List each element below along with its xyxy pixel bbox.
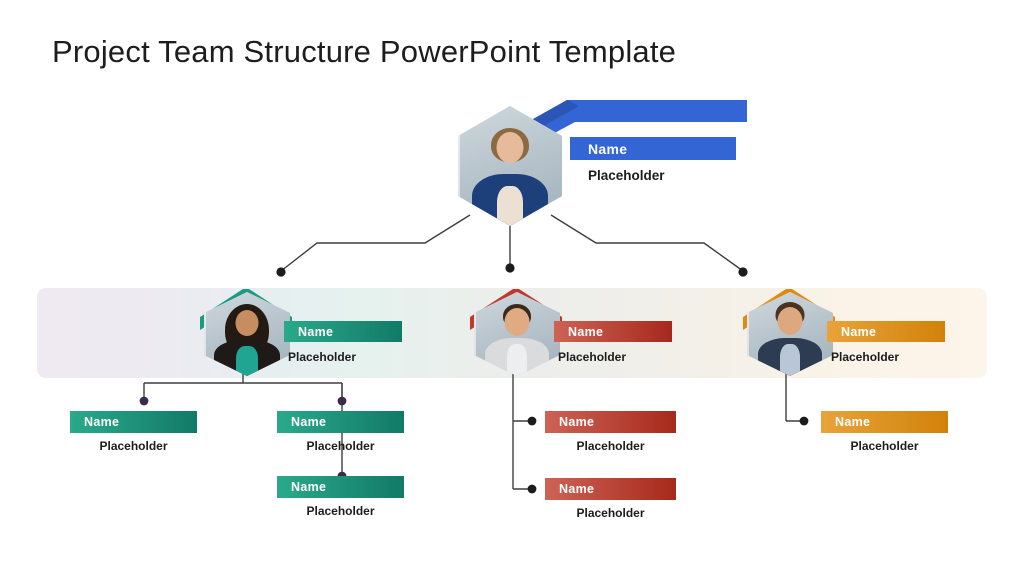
dot-orange-child-1: [800, 417, 809, 426]
red-name-text: Name: [554, 325, 603, 339]
orange-child-1-placeholder: Placeholder: [821, 439, 948, 453]
dot-red-child-1: [528, 417, 537, 426]
orange-child-bar-1[interactable]: Name: [821, 411, 948, 433]
red-placeholder-text: Placeholder: [558, 350, 626, 364]
red-child-bar-1[interactable]: Name: [545, 411, 676, 433]
root-placeholder-text: Placeholder: [588, 168, 665, 183]
orange-name-bar[interactable]: Name: [827, 321, 945, 342]
slide-canvas: Project Team Structure PowerPoint Templa…: [0, 0, 1024, 576]
red-child-1-name-text: Name: [545, 415, 594, 429]
teal-child-2-placeholder: Placeholder: [277, 439, 404, 453]
teal-child-3-placeholder: Placeholder: [277, 504, 404, 518]
dot-red-child-2: [528, 485, 537, 494]
page-title: Project Team Structure PowerPoint Templa…: [52, 34, 676, 70]
teal-child-3-name-text: Name: [277, 480, 326, 494]
teal-child-bar-2[interactable]: Name: [277, 411, 404, 433]
teal-name-bar[interactable]: Name: [284, 321, 402, 342]
teal-name-text: Name: [284, 325, 333, 339]
orange-name-text: Name: [827, 325, 876, 339]
teal-placeholder-text: Placeholder: [288, 350, 356, 364]
root-name-text: Name: [570, 141, 627, 157]
dot-orange-node: [738, 267, 747, 276]
orange-child-1-name-text: Name: [821, 415, 870, 429]
red-child-bar-2[interactable]: Name: [545, 478, 676, 500]
teal-child-1-placeholder: Placeholder: [70, 439, 197, 453]
dot-teal-child-1: [140, 397, 149, 406]
dot-teal-node: [276, 267, 285, 276]
org-node-red[interactable]: Name Placeholder: [466, 288, 696, 380]
connector-root-to-teal: [281, 215, 470, 271]
teal-child-2-name-text: Name: [277, 415, 326, 429]
red-child-1-placeholder: Placeholder: [545, 439, 676, 453]
dot-teal-child-2: [338, 397, 347, 406]
teal-child-1-name-text: Name: [70, 415, 119, 429]
red-name-bar[interactable]: Name: [554, 321, 672, 342]
red-child-2-placeholder: Placeholder: [545, 506, 676, 520]
dot-red-node: [505, 263, 514, 272]
red-child-2-name-text: Name: [545, 482, 594, 496]
teal-child-bar-1[interactable]: Name: [70, 411, 197, 433]
orange-placeholder-text: Placeholder: [831, 350, 899, 364]
org-node-root[interactable]: Name Placeholder: [452, 100, 752, 225]
org-node-teal[interactable]: Name Placeholder: [196, 288, 426, 380]
org-node-orange[interactable]: Name Placeholder: [739, 288, 969, 380]
root-name-bar[interactable]: Name: [570, 137, 736, 160]
teal-child-bar-3[interactable]: Name: [277, 476, 404, 498]
